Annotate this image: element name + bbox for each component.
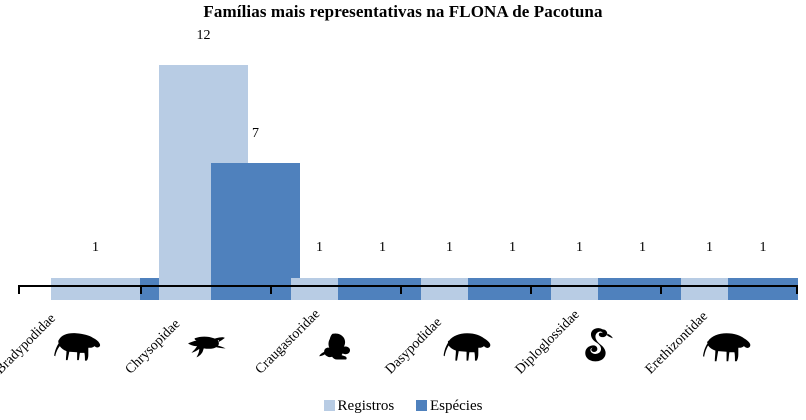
legend-swatch-especies — [416, 400, 427, 411]
chart-legend: Registros Espécies — [0, 398, 806, 415]
legend-label-registros: Registros — [338, 398, 395, 415]
value-label-registros-bradypodidae: 1 — [51, 240, 140, 256]
category-dasypodidae[interactable]: Dasypodidae — [392, 296, 522, 382]
bar-especies-chrysopidae[interactable] — [211, 163, 300, 300]
armadillo-icon — [438, 322, 494, 368]
x-axis-tick-5 — [660, 285, 662, 294]
porcupine-icon — [698, 322, 754, 368]
legend-entry-especies[interactable]: Espécies — [416, 398, 482, 415]
category-diploglossidae[interactable]: Diploglossidae — [522, 296, 652, 382]
category-label-chrysopidae: Chrysopidae — [123, 317, 184, 378]
value-label-especies-erethizontidae: 1 — [723, 240, 803, 256]
legend-label-especies: Espécies — [430, 398, 482, 415]
x-axis-tick-1 — [140, 285, 142, 294]
category-erethizontidae[interactable]: Erethizontidae — [652, 296, 782, 382]
x-axis-tick-6 — [796, 285, 798, 294]
x-axis-tick-3 — [400, 285, 402, 294]
category-chrysopidae[interactable]: Chrysopidae — [132, 296, 262, 382]
x-axis-line — [18, 285, 798, 287]
legend-swatch-registros — [324, 400, 335, 411]
snake-icon — [568, 322, 624, 368]
frog-icon — [308, 322, 364, 368]
legend-entry-registros[interactable]: Registros — [324, 398, 395, 415]
value-label-registros-chrysopidae: 12 — [159, 28, 248, 44]
x-axis-tick-4 — [530, 285, 532, 294]
plot-area: 1 1 12 7 1 1 1 1 1 1 1 1 — [0, 0, 806, 300]
category-label-dasypodidae: Dasypodidae — [383, 315, 446, 378]
value-label-especies-chrysopidae: 7 — [211, 126, 300, 142]
category-bradypodidae[interactable]: Bradypodidae — [2, 296, 132, 382]
lacewing-icon — [178, 322, 234, 368]
x-axis-tick-0 — [18, 285, 20, 294]
sloth-icon — [48, 322, 104, 368]
category-craugastoridae[interactable]: Craugastoridae — [262, 296, 392, 382]
x-axis-tick-2 — [270, 285, 272, 294]
